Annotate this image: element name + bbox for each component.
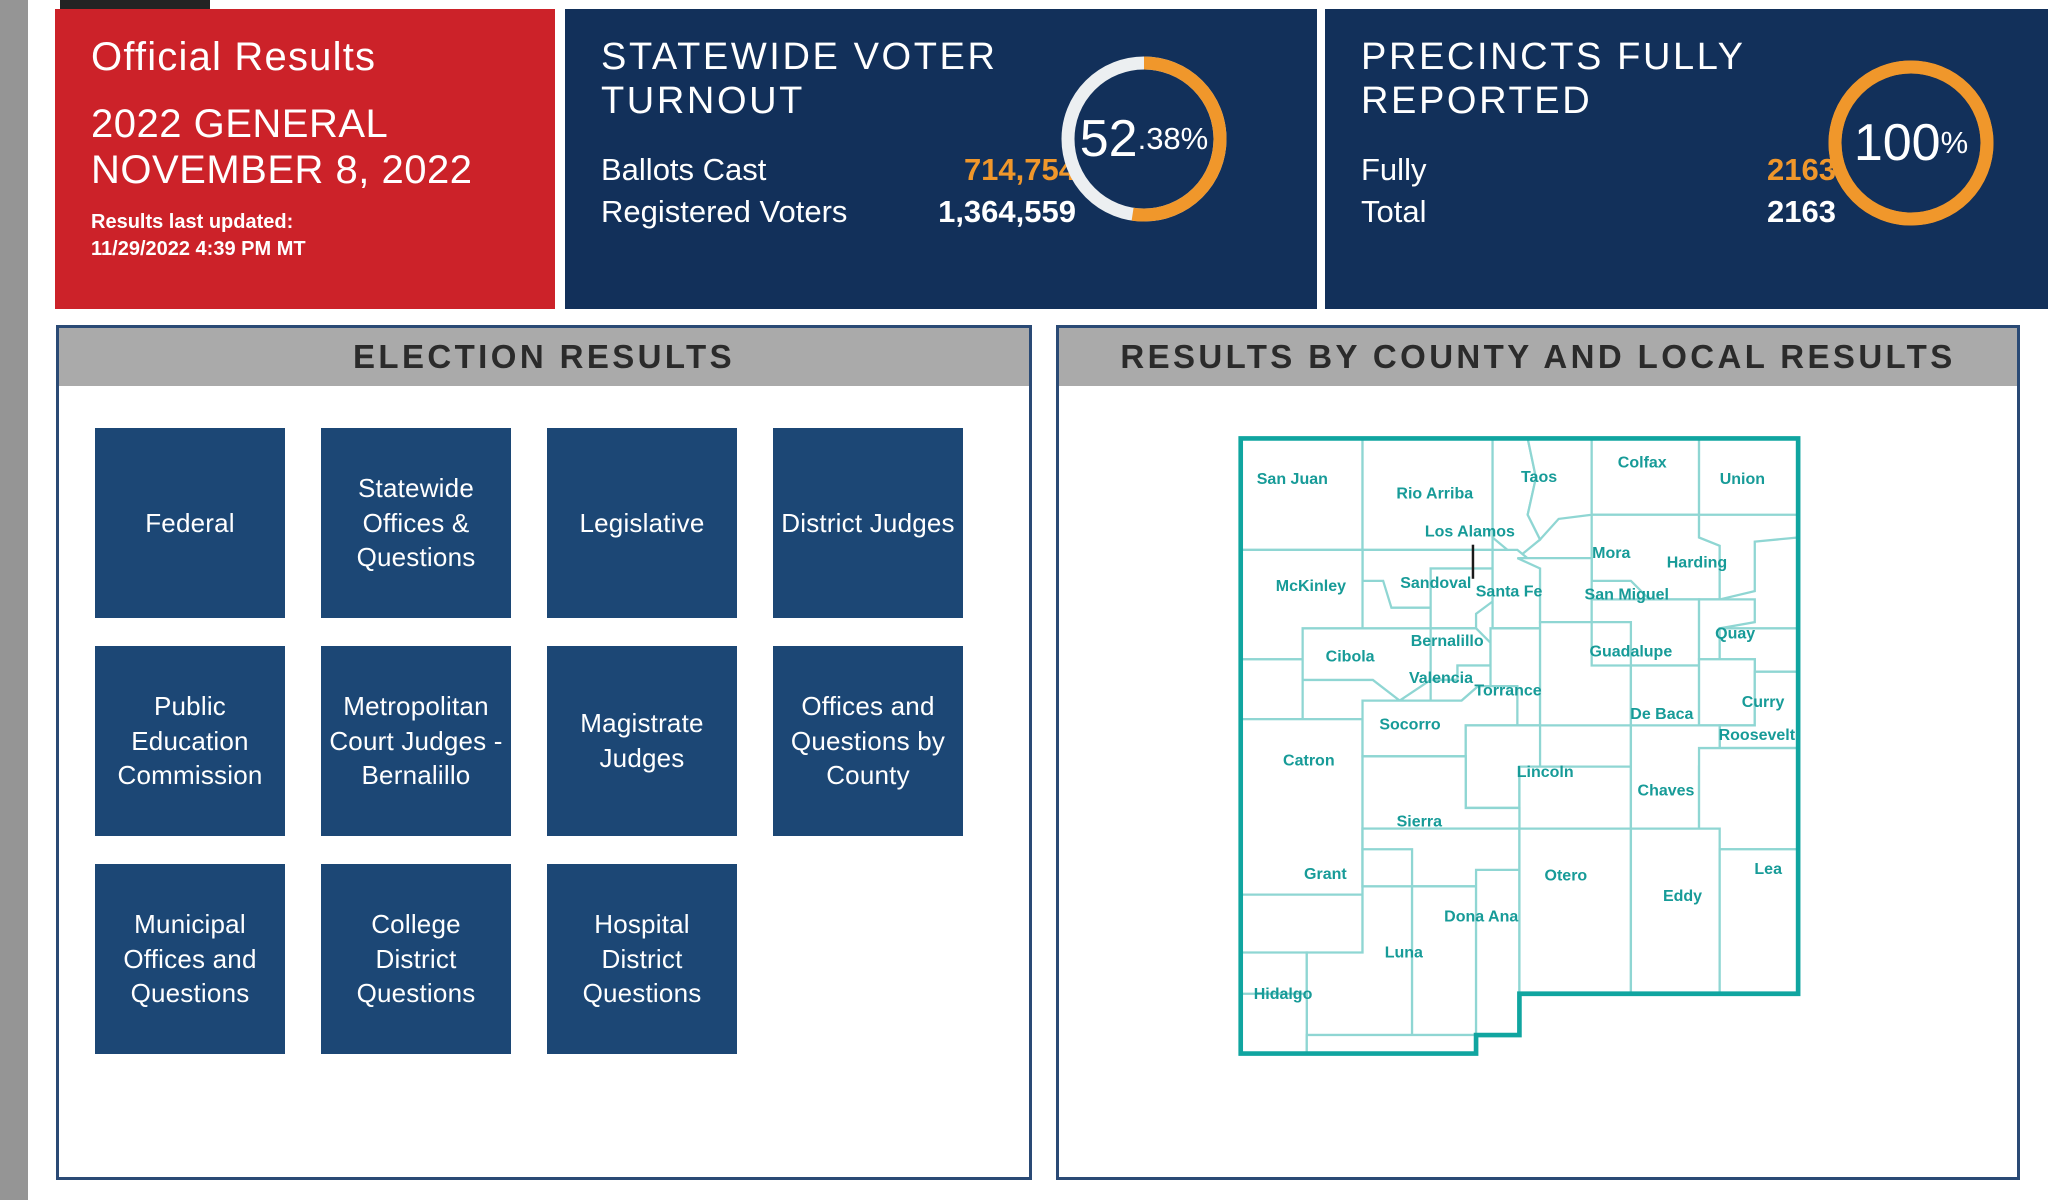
turnout-title: STATEWIDE VOTER TURNOUT <box>601 35 1031 123</box>
county-label[interactable]: Roosevelt <box>1719 727 1796 744</box>
county-map-card: RESULTS BY COUNTY AND LOCAL RESULTS <box>1056 325 2020 1180</box>
county-label[interactable]: Taos <box>1521 469 1557 486</box>
county-label[interactable]: Harding <box>1667 555 1727 572</box>
results-tile[interactable]: Federal <box>95 428 285 618</box>
dashboard-root: Official Results 2022 GENERAL NOVEMBER 8… <box>0 0 2048 1200</box>
results-tile[interactable]: Metropolitan Court Judges - Bernalillo <box>321 646 511 836</box>
county-label[interactable]: Union <box>1720 471 1765 488</box>
precincts-percent-whole: 100 <box>1854 113 1941 173</box>
turnout-percent-whole: 52 <box>1080 109 1138 169</box>
county-label[interactable]: Cibola <box>1326 648 1375 665</box>
last-updated-time: 11/29/2022 4:39 PM MT <box>91 236 555 263</box>
county-label[interactable]: Catron <box>1283 753 1335 770</box>
county-label[interactable]: Quay <box>1715 626 1755 643</box>
election-results-card: ELECTION RESULTS FederalStatewide Office… <box>56 325 1032 1180</box>
election-results-tile-grid: FederalStatewide Offices & QuestionsLegi… <box>59 386 1029 1054</box>
county-label[interactable]: Colfax <box>1618 454 1667 471</box>
results-tile[interactable]: Public Education Commission <box>95 646 285 836</box>
county-label[interactable]: Rio Arriba <box>1396 485 1473 502</box>
county-label[interactable]: Mora <box>1592 545 1630 562</box>
election-header-panel: Official Results 2022 GENERAL NOVEMBER 8… <box>55 9 555 309</box>
turnout-percent-fraction: .38% <box>1138 121 1209 157</box>
county-label[interactable]: Curry <box>1742 694 1785 711</box>
county-label[interactable]: Sandoval <box>1400 575 1471 592</box>
new-mexico-map[interactable]: San JuanRio ArribaTaosColfaxUnionLos Ala… <box>1059 386 2017 1176</box>
summary-band: Official Results 2022 GENERAL NOVEMBER 8… <box>28 9 2048 309</box>
county-label[interactable]: Torrance <box>1474 683 1541 700</box>
registered-voters-value: 1,364,559 <box>901 191 1076 233</box>
county-label[interactable]: Valencia <box>1409 670 1473 687</box>
results-tile[interactable]: Municipal Offices and Questions <box>95 864 285 1054</box>
results-tile[interactable]: Offices and Questions by County <box>773 646 963 836</box>
county-label[interactable]: Lea <box>1754 861 1782 878</box>
county-label[interactable]: Otero <box>1545 867 1588 884</box>
county-label[interactable]: Lincoln <box>1517 764 1574 781</box>
ballots-cast-value: 714,754 <box>901 149 1076 191</box>
turnout-gauge-label: 52.38% <box>1056 51 1232 227</box>
county-label[interactable]: McKinley <box>1276 578 1346 595</box>
precincts-fully-label: Fully <box>1361 149 1661 191</box>
county-label[interactable]: De Baca <box>1630 706 1693 723</box>
new-mexico-map-svg[interactable]: San JuanRio ArribaTaosColfaxUnionLos Ala… <box>1218 396 1858 1096</box>
precincts-gauge: 100% <box>1823 55 1999 231</box>
results-tile[interactable]: Hospital District Questions <box>547 864 737 1054</box>
county-label[interactable]: Grant <box>1304 866 1347 883</box>
results-tile[interactable]: Statewide Offices & Questions <box>321 428 511 618</box>
county-map-heading: RESULTS BY COUNTY AND LOCAL RESULTS <box>1059 328 2017 386</box>
results-tile[interactable]: College District Questions <box>321 864 511 1054</box>
election-title: 2022 GENERAL <box>91 101 555 147</box>
results-tile[interactable]: Magistrate Judges <box>547 646 737 836</box>
election-date: NOVEMBER 8, 2022 <box>91 147 555 193</box>
county-label[interactable]: Eddy <box>1663 888 1702 905</box>
top-dark-stub <box>60 0 210 9</box>
precincts-total-value: 2163 <box>1661 191 1836 233</box>
county-shapes <box>1241 438 1798 1053</box>
precincts-fully-value: 2163 <box>1661 149 1836 191</box>
county-label[interactable]: Los Alamos <box>1425 524 1515 541</box>
precincts-percent-fraction: % <box>1941 125 1969 161</box>
county-label[interactable]: Socorro <box>1379 717 1441 734</box>
precincts-gauge-label: 100% <box>1823 55 1999 231</box>
precincts-title: PRECINCTS FULLY REPORTED <box>1361 35 1791 123</box>
county-label[interactable]: San Juan <box>1257 471 1328 488</box>
left-gray-rail <box>0 0 28 1200</box>
last-updated-label: Results last updated: <box>91 209 555 236</box>
results-tile[interactable]: District Judges <box>773 428 963 618</box>
county-label[interactable]: Dona Ana <box>1444 909 1518 926</box>
county-label[interactable]: Sierra <box>1397 814 1442 831</box>
county-label[interactable]: Luna <box>1385 945 1423 962</box>
county-label[interactable]: Chaves <box>1638 783 1695 800</box>
registered-voters-label: Registered Voters <box>601 191 901 233</box>
county-label[interactable]: Bernalillo <box>1411 633 1484 650</box>
county-label[interactable]: Guadalupe <box>1590 643 1673 660</box>
official-results-label: Official Results <box>91 35 555 79</box>
precincts-total-label: Total <box>1361 191 1661 233</box>
county-label[interactable]: San Miguel <box>1585 587 1669 604</box>
county-label[interactable]: Santa Fe <box>1476 583 1543 600</box>
ballots-cast-label: Ballots Cast <box>601 149 901 191</box>
election-results-heading: ELECTION RESULTS <box>59 328 1029 386</box>
turnout-gauge: 52.38% <box>1056 51 1232 227</box>
results-tile[interactable]: Legislative <box>547 428 737 618</box>
county-label[interactable]: Hidalgo <box>1254 986 1313 1003</box>
